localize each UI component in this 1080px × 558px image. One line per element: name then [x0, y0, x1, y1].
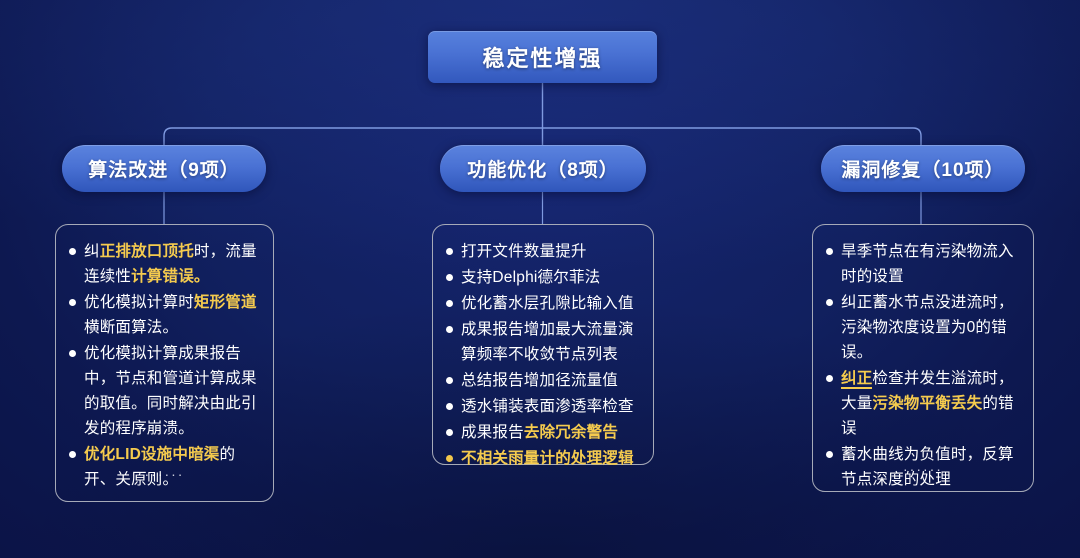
highlight-text: 排放口顶托	[115, 243, 194, 260]
list-item: 优化模拟计算成果报告中，节点和管道计算成果的取值。同时解决由此引发的程序崩溃。	[68, 341, 259, 441]
list-item: 总结报告增加径流量值	[445, 368, 639, 393]
branch-card-algorithm: 纠正排放口顶托时，流量连续性计算错误。优化模拟计算时矩形管道横断面算法。优化模拟…	[55, 224, 274, 502]
item-text: 优化模拟计算时	[84, 294, 194, 311]
list-item: 蓄水曲线为负值时，反算节点深度的处理	[825, 442, 1019, 492]
item-text: 支持Delphi德尔菲法	[461, 269, 600, 286]
item-text: 纠正蓄水节点没进流时，污染物浓度设置为0的错误。	[841, 294, 1014, 361]
branch-header-label: 算法改进（9项）	[88, 155, 240, 182]
list-item: 成果报告去除冗余警告	[445, 420, 639, 445]
branch-header-label: 功能优化（8项）	[467, 155, 619, 182]
list-item: 纠正蓄水节点没进流时，污染物浓度设置为0的错误。	[825, 290, 1019, 365]
item-text: 纠	[84, 243, 100, 260]
slide-canvas: 稳定性增强 算法改进（9项） 功能优化（8项） 漏洞修复（10项） 纠正排放口顶…	[0, 0, 1080, 558]
item-text: 透水铺装表面渗透率检查	[461, 398, 634, 415]
item-text: 总结报告增加径流量值	[461, 372, 618, 389]
item-list: 打开文件数量提升支持Delphi德尔菲法优化蓄水层孔隙比输入值成果报告增加最大流…	[445, 239, 639, 471]
item-text: 打开文件数量提升	[461, 243, 587, 260]
item-list: 旱季节点在有污染物流入时的设置纠正蓄水节点没进流时，污染物浓度设置为0的错误。纠…	[825, 239, 1019, 492]
highlight-text: 去除冗余警告	[524, 424, 618, 441]
list-item: 优化蓄水层孔隙比输入值	[445, 291, 639, 316]
highlight-text: 优化	[84, 446, 115, 463]
item-text: 成果报告增加最大流量演算频率不收敛节点列表	[461, 321, 634, 363]
highlight-text: 正	[100, 243, 116, 260]
list-item: 透水铺装表面渗透率检查	[445, 394, 639, 419]
branch-header-bugfix[interactable]: 漏洞修复（10项）	[821, 145, 1025, 192]
list-item: 纠正检查并发生溢流时，大量污染物平衡丢失的错误	[825, 366, 1019, 441]
branch-card-function: 打开文件数量提升支持Delphi德尔菲法优化蓄水层孔隙比输入值成果报告增加最大流…	[432, 224, 654, 465]
list-item: 优化LID设施中暗渠的开、关原则。	[68, 442, 259, 492]
item-text: 成果报告	[461, 424, 524, 441]
list-item: 成果报告增加最大流量演算频率不收敛节点列表	[445, 317, 639, 367]
item-text: 旱季节点在有污染物流入时的设置	[841, 243, 1014, 285]
item-text: 蓄水曲线为负值时，反算节点深度的处理	[841, 446, 1014, 488]
highlight-text: 矩形管道	[194, 294, 257, 311]
list-item: 旱季节点在有污染物流入时的设置	[825, 239, 1019, 289]
item-text: 不相关雨量计的处理逻辑	[461, 450, 634, 467]
branch-card-bugfix: 旱季节点在有污染物流入时的设置纠正蓄水节点没进流时，污染物浓度设置为0的错误。纠…	[812, 224, 1034, 492]
item-list: 纠正排放口顶托时，流量连续性计算错误。优化模拟计算时矩形管道横断面算法。优化模拟…	[68, 239, 259, 492]
list-item: 支持Delphi德尔菲法	[445, 265, 639, 290]
list-item: 优化模拟计算时矩形管道横断面算法。	[68, 290, 259, 340]
root-node-label: 稳定性增强	[482, 41, 602, 73]
branch-header-algorithm[interactable]: 算法改进（9项）	[62, 145, 266, 192]
item-text: 横断面算法。	[84, 319, 178, 336]
highlight-text: 计算错误。	[131, 268, 210, 285]
highlight-text: LID设施中暗渠	[115, 446, 219, 463]
list-item: 打开文件数量提升	[445, 239, 639, 264]
highlight-underline-text: 纠正	[841, 370, 872, 389]
branch-header-function[interactable]: 功能优化（8项）	[440, 145, 646, 192]
item-text: 优化模拟计算成果报告中，节点和管道计算成果的取值。同时解决由此引发的程序崩溃。	[84, 345, 257, 437]
highlight-text: 污染物平衡丢失	[872, 395, 982, 412]
item-text: 优化蓄水层孔隙比输入值	[461, 295, 634, 312]
list-item: 不相关雨量计的处理逻辑	[445, 446, 639, 471]
root-node[interactable]: 稳定性增强	[428, 31, 657, 83]
list-item: 纠正排放口顶托时，流量连续性计算错误。	[68, 239, 259, 289]
branch-header-label: 漏洞修复（10项）	[841, 155, 1004, 182]
